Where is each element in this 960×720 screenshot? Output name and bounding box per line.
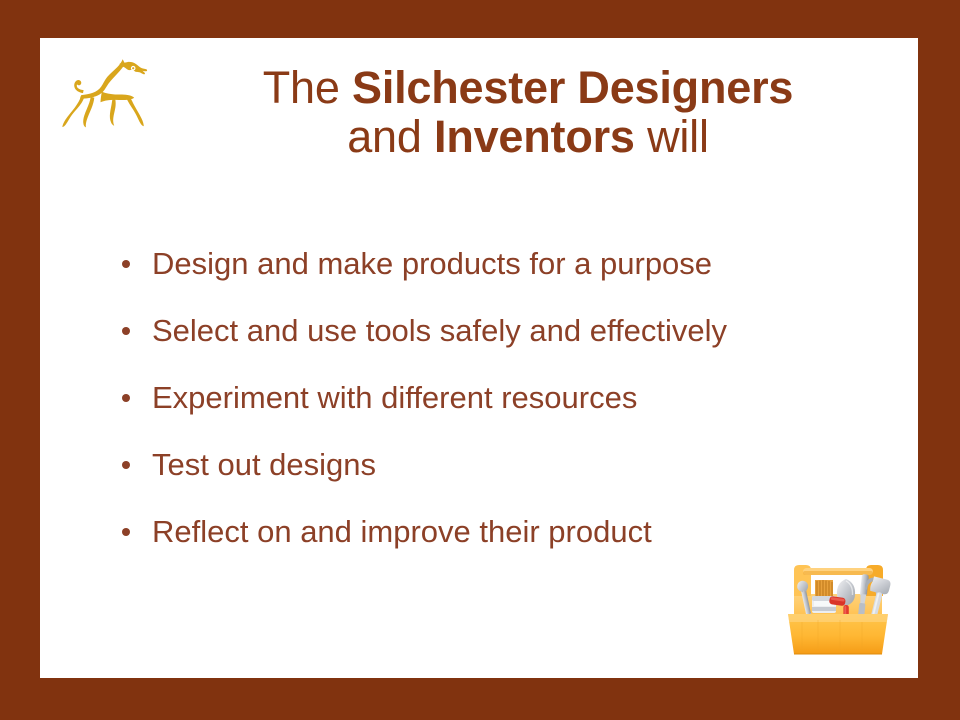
title-segment-bold: Silchester Designers <box>352 62 793 113</box>
slide-content-panel: The Silchester Designers and Inventors w… <box>40 38 918 678</box>
title-segment-bold: Inventors <box>434 111 635 162</box>
bullet-point-icon <box>122 260 130 268</box>
page-title-line-2: and Inventors will <box>158 113 898 162</box>
title-segment: The <box>263 62 352 113</box>
leaping-horse-logo <box>53 56 153 142</box>
page-title: The Silchester Designers and Inventors w… <box>158 64 898 161</box>
list-item: Test out designs <box>114 444 904 511</box>
page-title-line-1: The Silchester Designers <box>158 64 898 113</box>
list-item: Experiment with different resources <box>114 377 904 444</box>
list-item-label: Reflect on and improve their product <box>152 511 652 553</box>
list-item: Design and make products for a purpose <box>114 243 904 310</box>
list-item-label: Select and use tools safely and effectiv… <box>152 310 727 352</box>
slide-canvas: The Silchester Designers and Inventors w… <box>0 0 960 720</box>
title-segment: and <box>347 111 434 162</box>
list-item-label: Design and make products for a purpose <box>152 243 712 285</box>
objectives-list: Design and make products for a purpose S… <box>114 243 904 578</box>
bullet-point-icon <box>122 461 130 469</box>
title-segment: will <box>635 111 709 162</box>
list-item-label: Experiment with different resources <box>152 377 637 419</box>
bullet-point-icon <box>122 394 130 402</box>
list-item-label: Test out designs <box>152 444 376 486</box>
slide-header: The Silchester Designers and Inventors w… <box>40 38 918 198</box>
toolbox-illustration <box>778 552 898 662</box>
bullet-point-icon <box>122 528 130 536</box>
list-item: Select and use tools safely and effectiv… <box>114 310 904 377</box>
bullet-point-icon <box>122 327 130 335</box>
